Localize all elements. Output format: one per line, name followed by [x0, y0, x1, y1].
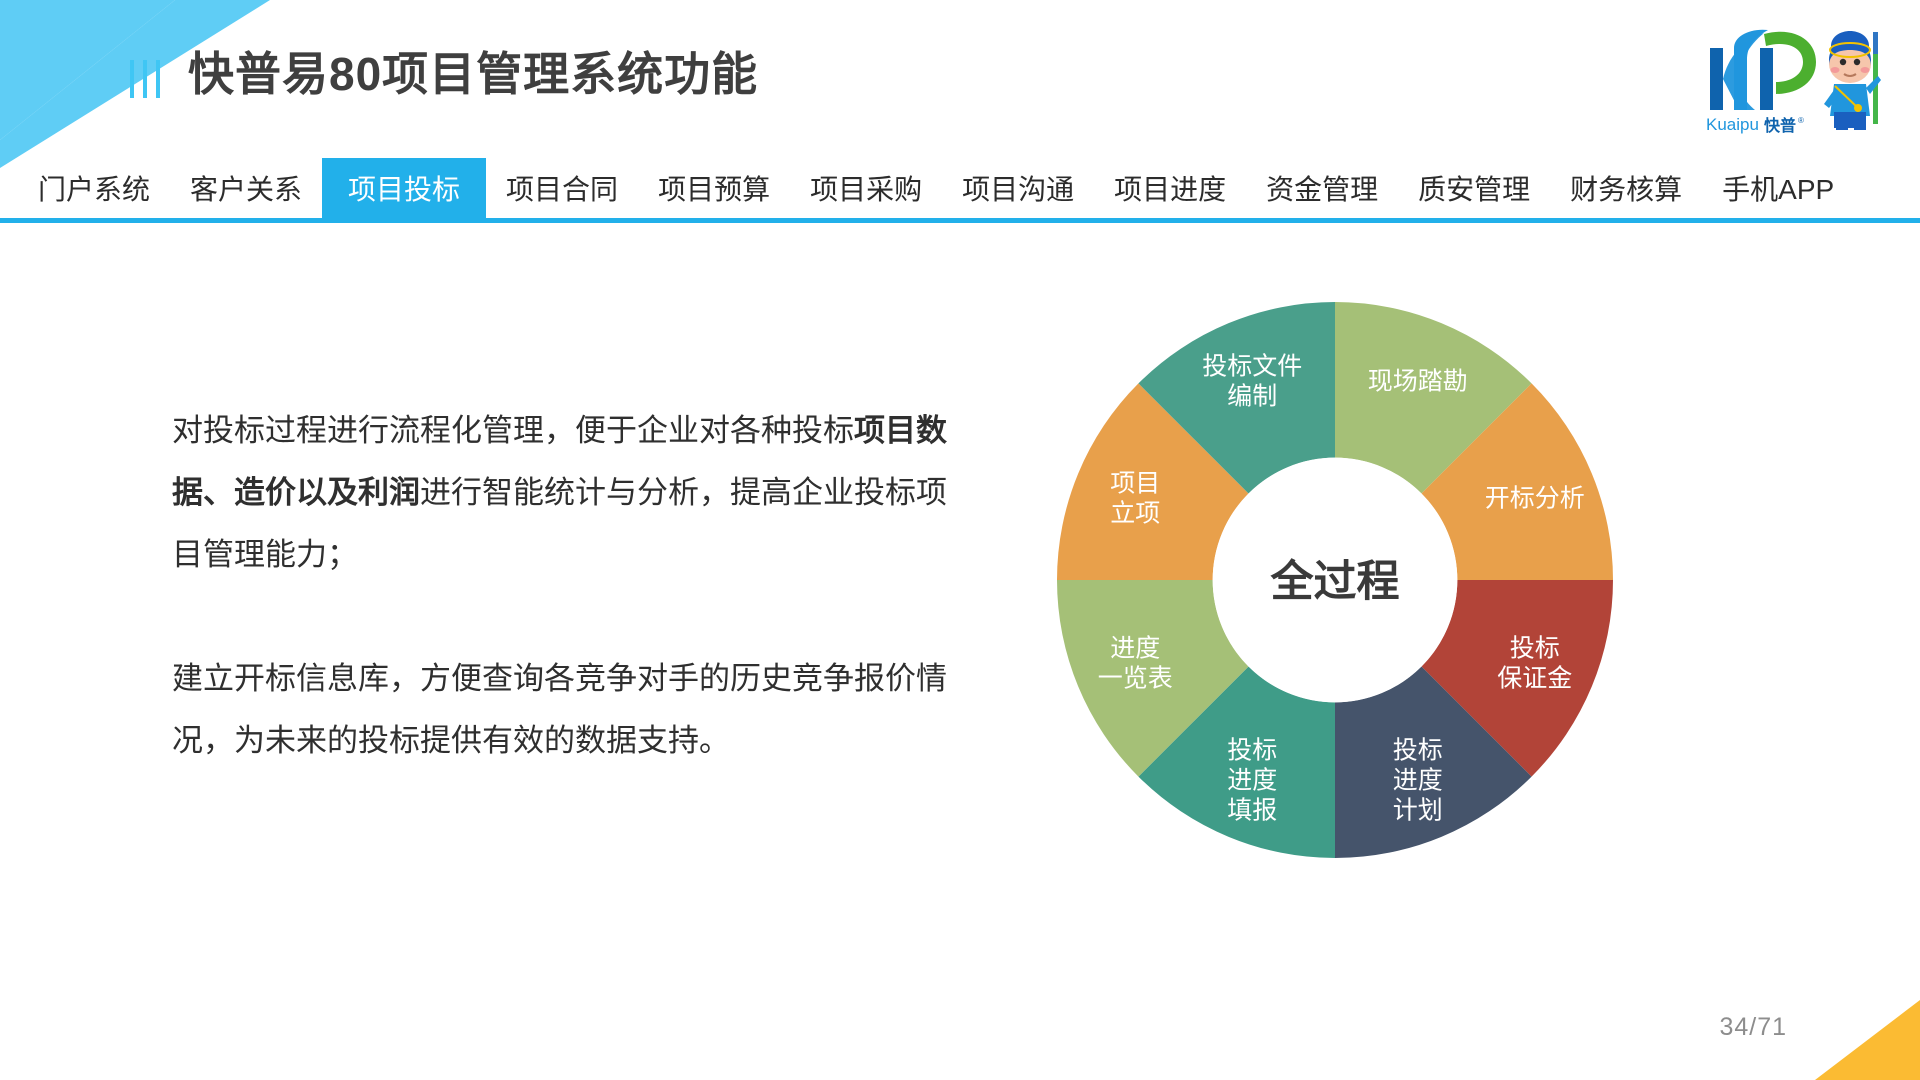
nav-item-11[interactable]: 财务核算 — [1550, 158, 1702, 218]
nav-item-list: 门户系统客户关系项目投标项目合同项目预算项目采购项目沟通项目进度资金管理质安管理… — [18, 158, 1854, 218]
process-donut-chart: 现场踏勘开标分析投标保证金投标进度计划投标进度填报进度一览表项目立项投标文件编制… — [1055, 300, 1615, 860]
nav-item-4[interactable]: 项目合同 — [486, 158, 638, 218]
nav-item-7[interactable]: 项目沟通 — [942, 158, 1094, 218]
logo-wordmark-cn: 快普 — [1764, 116, 1796, 135]
nav-item-6[interactable]: 项目采购 — [790, 158, 942, 218]
nav-item-1[interactable]: 门户系统 — [18, 158, 170, 218]
nav-item-12[interactable]: 手机APP — [1702, 158, 1854, 218]
nav-item-5[interactable]: 项目预算 — [638, 158, 790, 218]
nav-item-10[interactable]: 质安管理 — [1398, 158, 1550, 218]
nav-item-3[interactable]: 项目投标 — [322, 158, 486, 218]
nav-item-8[interactable]: 项目进度 — [1094, 158, 1246, 218]
page-number: 34/71 — [1719, 1013, 1787, 1042]
donut-segment-label-4: 投标进度计划 — [1393, 737, 1443, 825]
kp-monogram-icon — [1710, 30, 1816, 110]
paragraph-1-lead: 对投标过程进行流程化管理，便于企业对各种投标 — [172, 413, 854, 448]
description-paragraph-2: 建立开标信息库，方便查询各竞争对手的历史竞争报价情况，为未来的投标提供有效的数据… — [172, 648, 962, 772]
corner-triangle-decoration — [1785, 1000, 1920, 1080]
description-paragraph-1: 对投标过程进行流程化管理，便于企业对各种投标项目数据、造价以及利润进行智能统计与… — [172, 400, 962, 586]
donut-center-label: 全过程 — [1270, 557, 1400, 606]
monkey-mascot-icon — [1824, 31, 1881, 130]
three-vertical-bars-icon — [130, 60, 160, 98]
logo-wordmark: Kuaipu — [1706, 115, 1759, 134]
donut-segment-label-1: 现场踏勘 — [1368, 367, 1468, 395]
kuaipu-kp-logo: Kuaipu 快普 ® — [1698, 24, 1898, 134]
page-title: 快普易80项目管理系统功能 — [188, 47, 758, 102]
nav-item-2[interactable]: 客户关系 — [170, 158, 322, 218]
module-nav-bar[interactable]: 门户系统客户关系项目投标项目合同项目预算项目采购项目沟通项目进度资金管理质安管理… — [0, 158, 1920, 218]
corner-triangle-shape — [1815, 1000, 1920, 1080]
logo-trademark: ® — [1798, 116, 1804, 125]
page-header: 快普易80项目管理系统功能 — [0, 0, 1920, 150]
description-copy: 对投标过程进行流程化管理，便于企业对各种投标项目数据、造价以及利润进行智能统计与… — [172, 400, 962, 772]
nav-item-9[interactable]: 资金管理 — [1246, 158, 1398, 218]
donut-segment-label-5: 投标进度填报 — [1227, 737, 1277, 825]
nav-underline-rule — [0, 218, 1920, 223]
donut-segment-label-2: 开标分析 — [1485, 484, 1585, 512]
